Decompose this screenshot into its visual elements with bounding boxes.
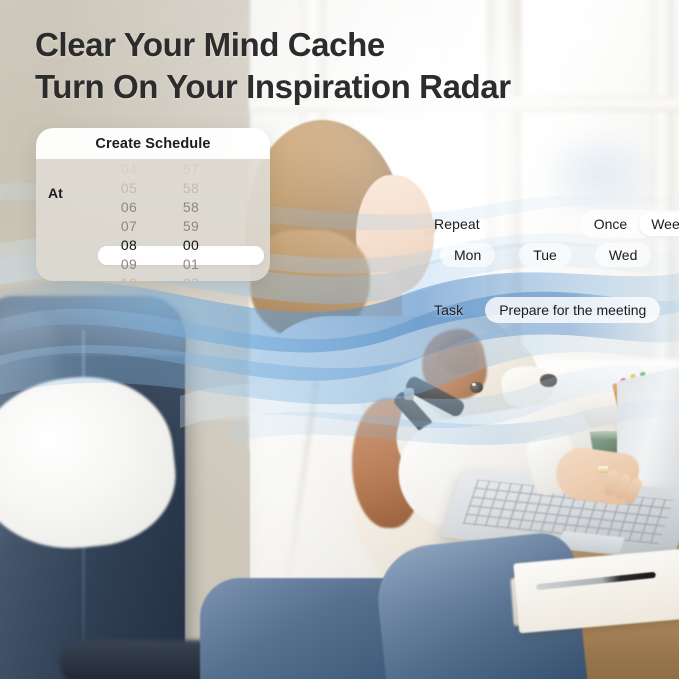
hour-cell-selected: 08 (98, 237, 160, 253)
time-row[interactable]: 10 02 (98, 273, 270, 281)
headline-line-2: Turn On Your Inspiration Radar (35, 66, 511, 108)
time-row[interactable]: 09 01 (98, 254, 270, 273)
time-row[interactable]: 07 59 (98, 216, 270, 235)
minute-cell: 58 (160, 180, 222, 196)
repeat-option-weekly[interactable]: Weekly (639, 212, 679, 236)
create-schedule-card: Create Schedule At 04 57 05 58 06 (36, 128, 270, 281)
time-picker[interactable]: 04 57 05 58 06 58 07 59 (98, 159, 270, 281)
card-body: At 04 57 05 58 06 58 (36, 159, 270, 281)
time-row[interactable]: 04 57 (98, 159, 270, 178)
minute-cell: 01 (160, 256, 222, 272)
card-title: Create Schedule (95, 136, 210, 152)
repeat-row: Repeat Once Weekly (434, 210, 679, 238)
repeat-days-row: Mon Tue Wed (440, 243, 651, 267)
hour-cell: 10 (98, 275, 160, 282)
minute-cell-selected: 00 (160, 237, 222, 253)
task-value-field[interactable]: Prepare for the meeting (485, 297, 660, 323)
headline: Clear Your Mind Cache Turn On Your Inspi… (35, 24, 511, 108)
minute-cell: 58 (160, 199, 222, 215)
card-header: Create Schedule (36, 128, 270, 159)
hour-cell: 04 (98, 161, 160, 177)
day-chip-mon[interactable]: Mon (440, 243, 495, 267)
minute-cell: 59 (160, 218, 222, 234)
minute-cell: 02 (160, 275, 222, 282)
hour-cell: 07 (98, 218, 160, 234)
task-row: Task Prepare for the meeting (434, 297, 660, 323)
headline-line-1: Clear Your Mind Cache (35, 24, 511, 66)
time-row[interactable]: 05 58 (98, 178, 270, 197)
time-row-selected[interactable]: 08 00 (98, 235, 270, 254)
day-chip-wed[interactable]: Wed (595, 243, 652, 267)
hour-cell: 06 (98, 199, 160, 215)
hour-cell: 09 (98, 256, 160, 272)
promo-banner: Clear Your Mind Cache Turn On Your Inspi… (0, 0, 679, 679)
task-label: Task (434, 302, 463, 318)
minute-cell: 57 (160, 161, 222, 177)
day-chip-tue[interactable]: Tue (519, 243, 571, 267)
time-row[interactable]: 06 58 (98, 197, 270, 216)
hour-cell: 05 (98, 180, 160, 196)
repeat-option-once[interactable]: Once (582, 212, 639, 236)
repeat-segmented-control[interactable]: Once Weekly (580, 210, 679, 238)
time-picker-rows: 04 57 05 58 06 58 07 59 (98, 159, 270, 281)
at-label: At (48, 185, 63, 201)
repeat-label: Repeat (434, 216, 480, 232)
